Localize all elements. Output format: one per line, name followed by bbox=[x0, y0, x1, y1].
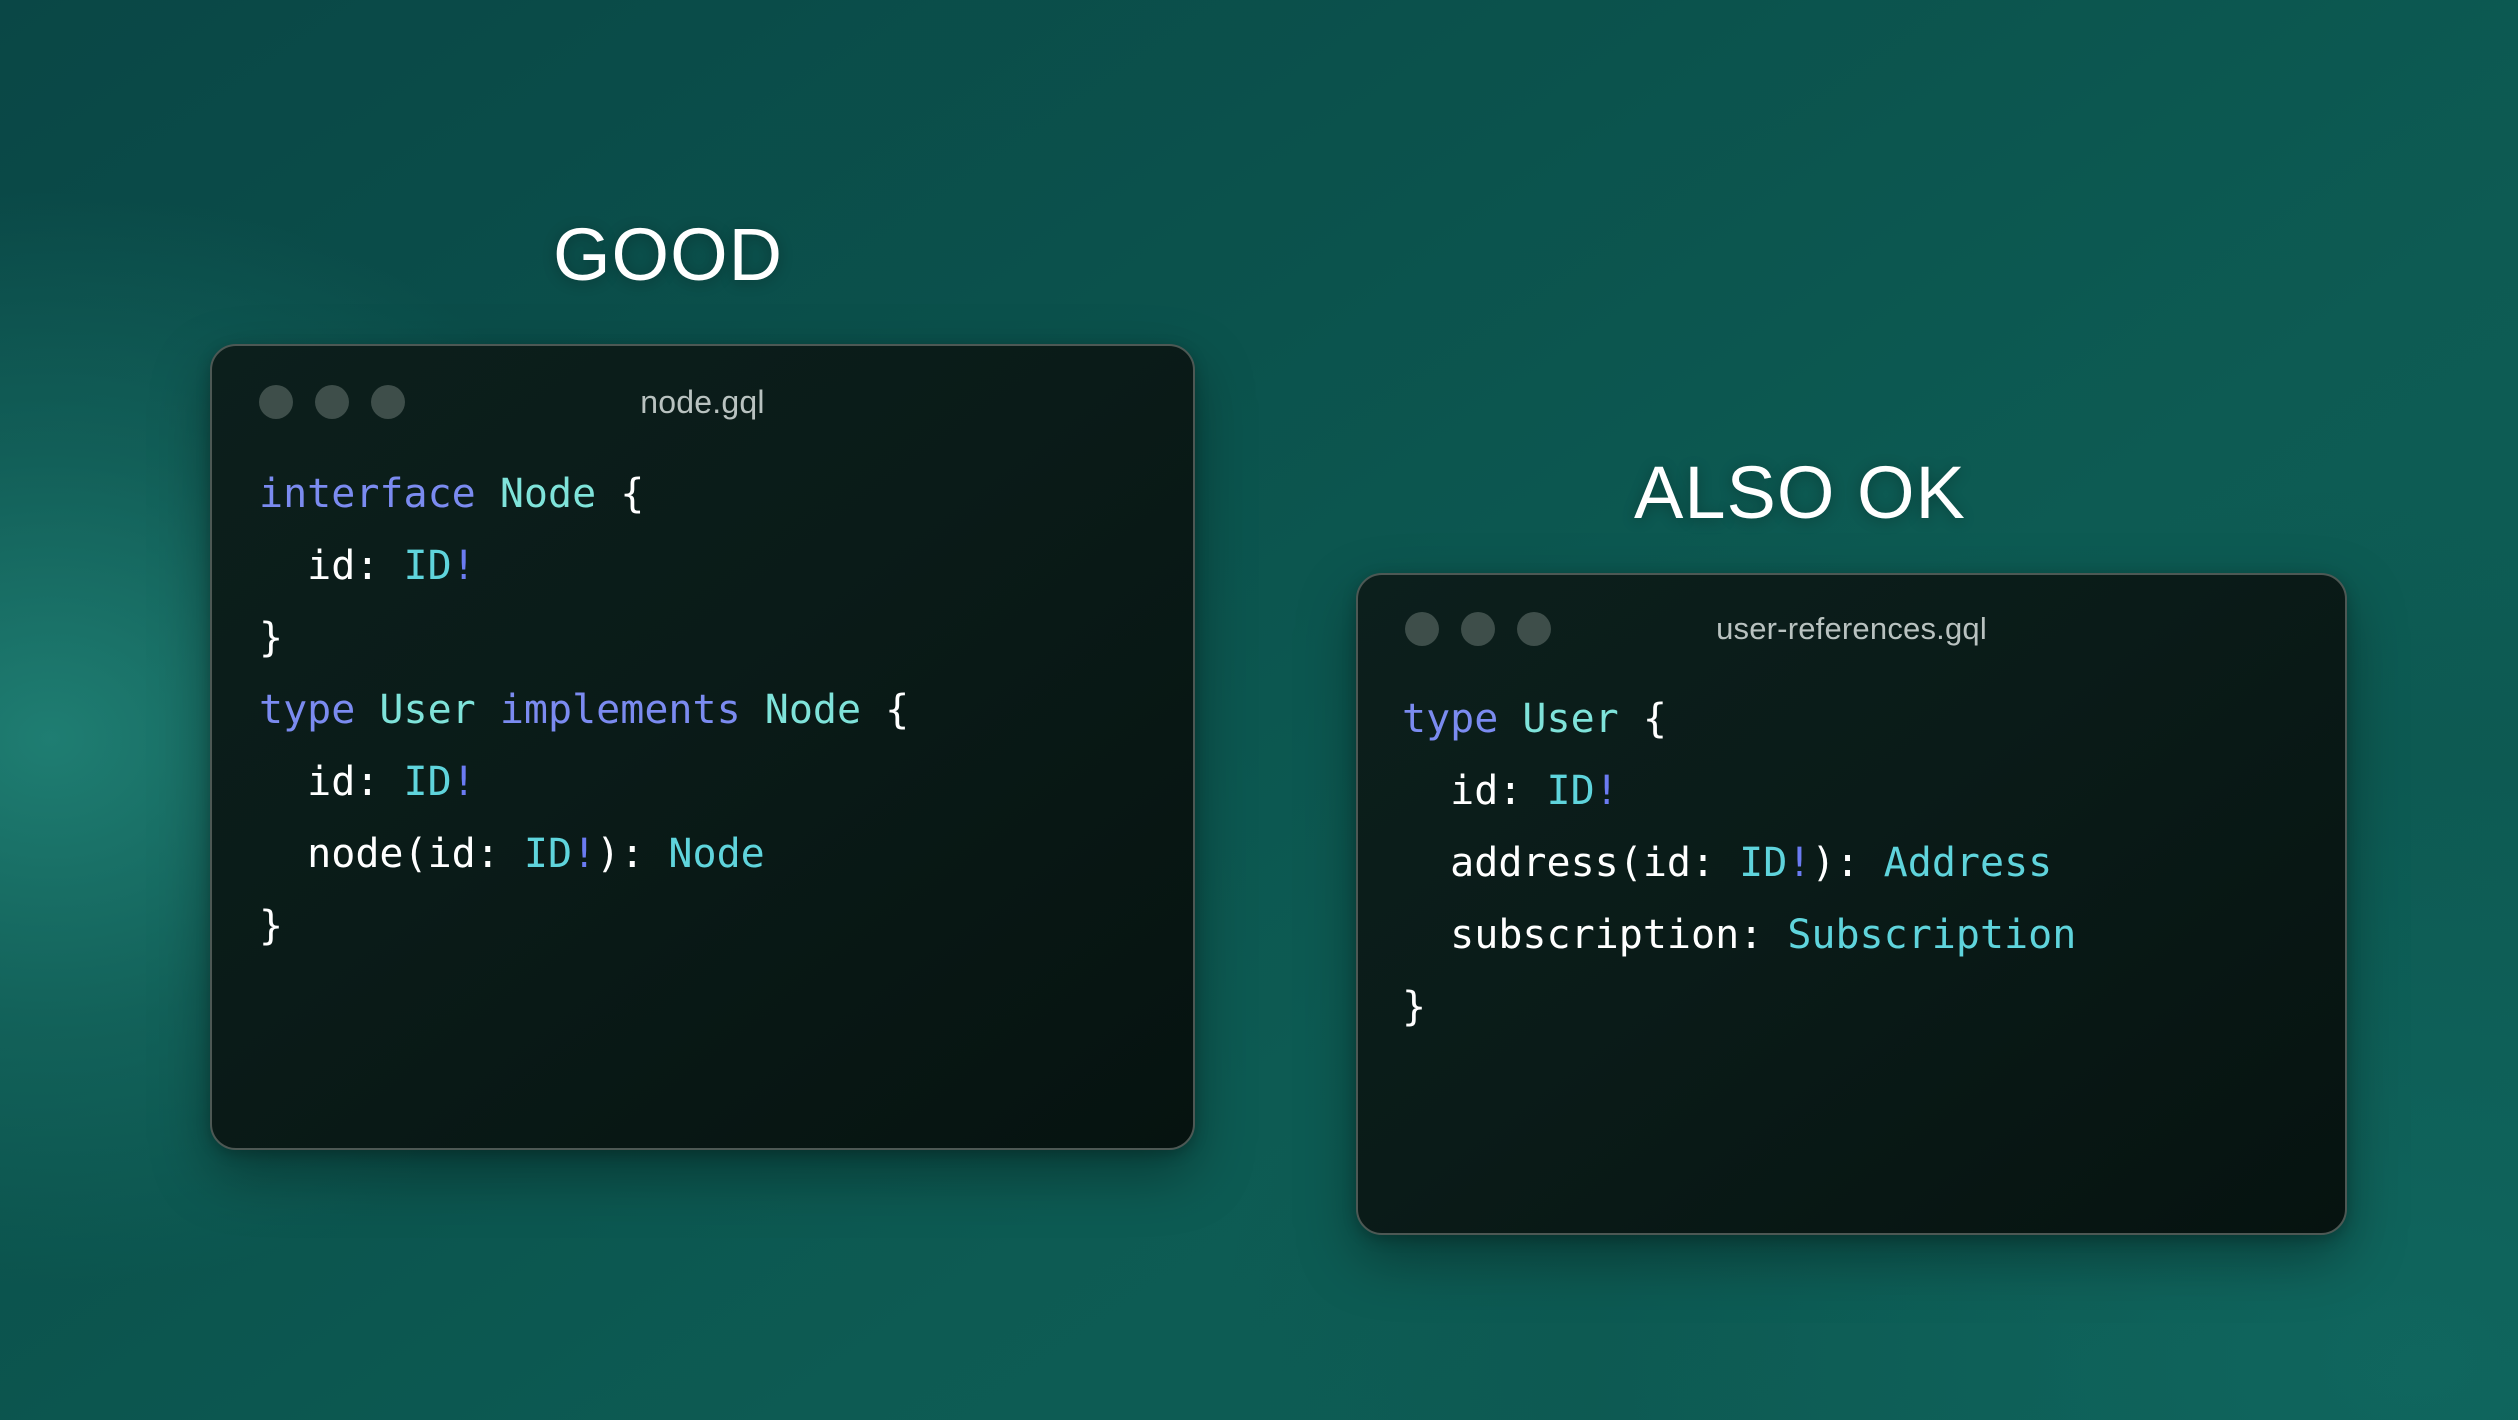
code-token: type bbox=[1402, 696, 1498, 742]
code-token bbox=[741, 687, 765, 733]
code-token: ! bbox=[452, 759, 476, 805]
code-token: id: bbox=[1402, 768, 1547, 814]
code-token: { bbox=[861, 687, 909, 733]
slide-canvas: GOOD node.gql interface Node { id: ID!}t… bbox=[0, 0, 2518, 1420]
code-token: ! bbox=[1595, 768, 1619, 814]
code-token: ID bbox=[404, 759, 452, 805]
code-token: { bbox=[596, 471, 644, 517]
code-token: Node bbox=[500, 471, 596, 517]
code-token: address(id: bbox=[1402, 840, 1739, 886]
code-line: id: ID! bbox=[259, 530, 1193, 602]
window-controls[interactable] bbox=[259, 385, 405, 419]
code-line: } bbox=[259, 602, 1193, 674]
code-line: type User implements Node { bbox=[259, 674, 1193, 746]
code-line: id: ID! bbox=[259, 746, 1193, 818]
code-token: ! bbox=[452, 543, 476, 589]
code-token: id: bbox=[259, 759, 404, 805]
code-token: interface bbox=[259, 471, 476, 517]
code-line: id: ID! bbox=[1402, 755, 2345, 827]
close-dot-icon[interactable] bbox=[259, 385, 293, 419]
code-token bbox=[476, 471, 500, 517]
code-token: ID bbox=[1547, 768, 1595, 814]
code-token: subscription: bbox=[1402, 912, 1787, 958]
minimize-dot-icon[interactable] bbox=[1461, 612, 1495, 646]
code-token: ! bbox=[572, 831, 596, 877]
code-token: ): bbox=[596, 831, 668, 877]
code-token: ID bbox=[524, 831, 572, 877]
code-line: address(id: ID!): Address bbox=[1402, 827, 2345, 899]
code-block: interface Node { id: ID!}type User imple… bbox=[212, 458, 1193, 962]
code-token: } bbox=[259, 903, 283, 949]
code-block: type User { id: ID! address(id: ID!): Ad… bbox=[1358, 683, 2345, 1043]
code-line: subscription: Subscription bbox=[1402, 899, 2345, 971]
code-token: ID bbox=[404, 543, 452, 589]
code-token: node(id: bbox=[259, 831, 524, 877]
code-line: } bbox=[259, 890, 1193, 962]
code-window-node-gql[interactable]: node.gql interface Node { id: ID!}type U… bbox=[210, 344, 1195, 1150]
code-token bbox=[476, 687, 500, 733]
code-token: User bbox=[1522, 696, 1618, 742]
code-token: Node bbox=[765, 687, 861, 733]
close-dot-icon[interactable] bbox=[1405, 612, 1439, 646]
maximize-dot-icon[interactable] bbox=[1517, 612, 1551, 646]
code-token: implements bbox=[500, 687, 741, 733]
code-token bbox=[355, 687, 379, 733]
code-token: ID bbox=[1739, 840, 1787, 886]
code-token: Subscription bbox=[1787, 912, 2076, 958]
code-token: id: bbox=[259, 543, 404, 589]
minimize-dot-icon[interactable] bbox=[315, 385, 349, 419]
code-token: Node bbox=[668, 831, 764, 877]
code-line: interface Node { bbox=[259, 458, 1193, 530]
code-token: Address bbox=[1884, 840, 2053, 886]
code-token: User bbox=[379, 687, 475, 733]
code-line: } bbox=[1402, 971, 2345, 1043]
code-token: { bbox=[1619, 696, 1667, 742]
code-token: } bbox=[259, 615, 283, 661]
code-token: type bbox=[259, 687, 355, 733]
heading-also-ok: ALSO OK bbox=[1634, 456, 1966, 530]
code-window-user-references-gql[interactable]: user-references.gql type User { id: ID! … bbox=[1356, 573, 2347, 1235]
code-line: type User { bbox=[1402, 683, 2345, 755]
heading-good: GOOD bbox=[553, 218, 783, 292]
code-token: ): bbox=[1811, 840, 1883, 886]
maximize-dot-icon[interactable] bbox=[371, 385, 405, 419]
code-token: } bbox=[1402, 984, 1426, 1030]
code-token bbox=[1498, 696, 1522, 742]
code-token: ! bbox=[1787, 840, 1811, 886]
window-titlebar: node.gql bbox=[212, 346, 1193, 458]
window-titlebar: user-references.gql bbox=[1358, 575, 2345, 683]
window-controls[interactable] bbox=[1405, 612, 1551, 646]
code-line: node(id: ID!): Node bbox=[259, 818, 1193, 890]
